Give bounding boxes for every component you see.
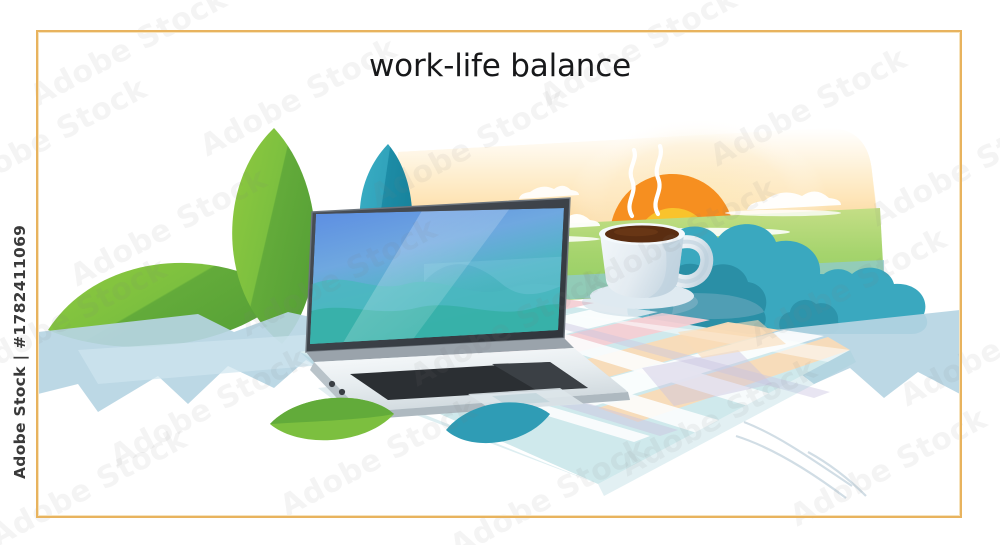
laptop-port-1 bbox=[329, 381, 335, 387]
laptop-port-2 bbox=[339, 389, 345, 395]
coffee-highlight bbox=[614, 228, 658, 236]
scene-svg bbox=[38, 32, 960, 516]
artwork-title: work-life balance bbox=[0, 48, 1000, 84]
illustration-artwork bbox=[38, 32, 960, 516]
stock-credit-label: Adobe Stock | #1782411069 bbox=[11, 139, 29, 479]
stock-photo-canvas: work-life balance Adobe Stock Adobe Stoc… bbox=[0, 0, 1000, 545]
cloud-streak-right bbox=[725, 210, 841, 216]
